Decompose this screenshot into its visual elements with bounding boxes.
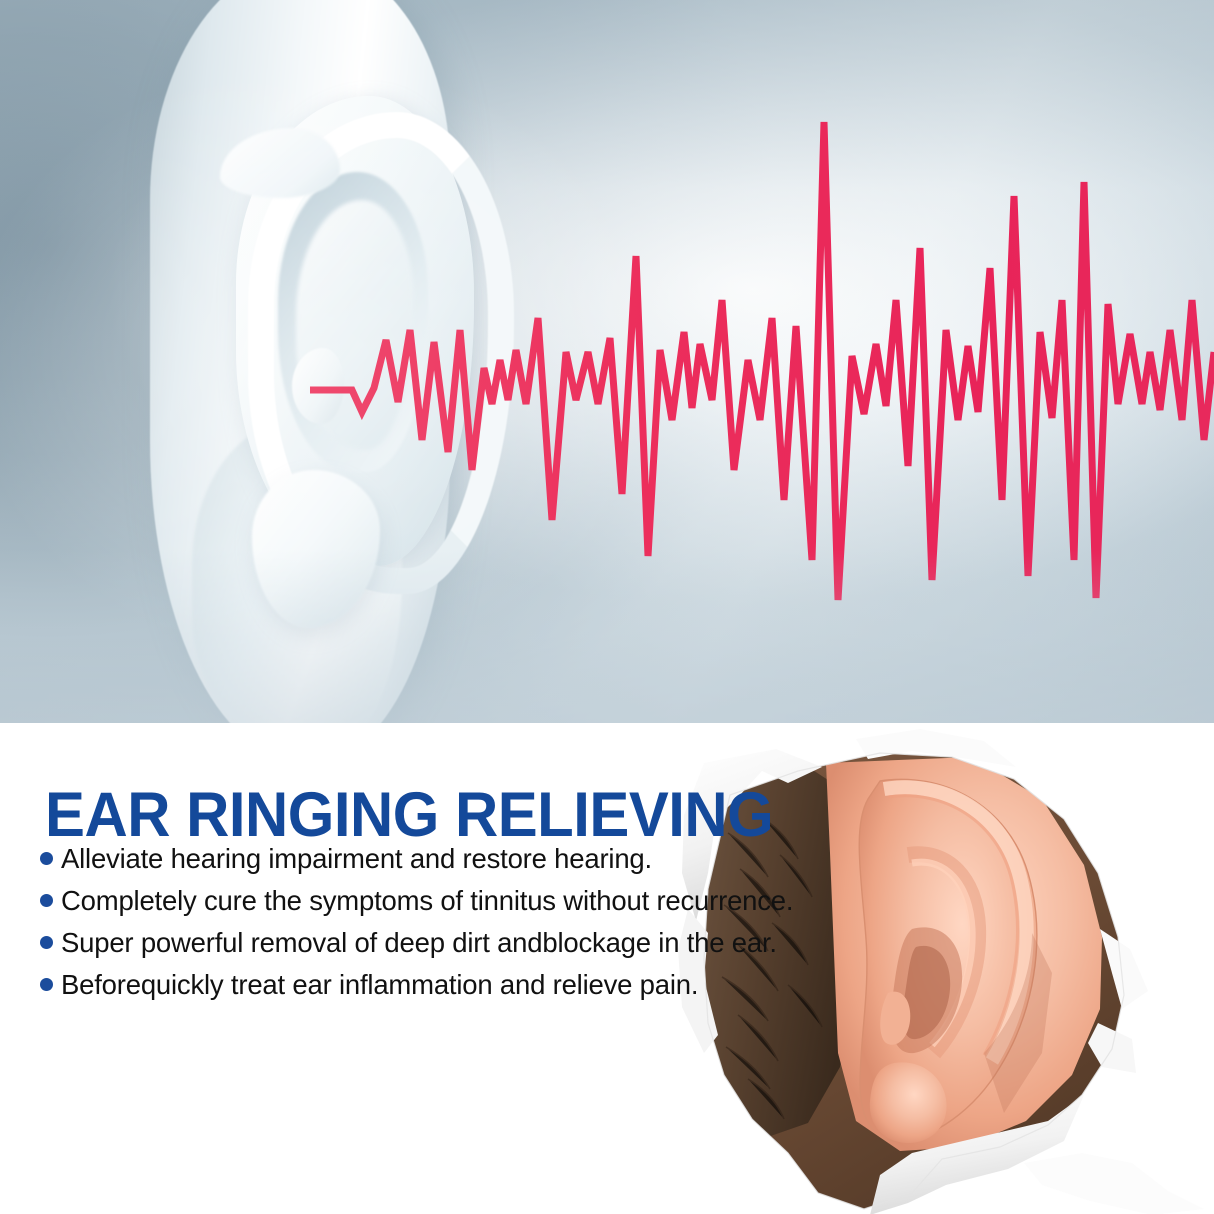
- bullet-dot-icon: [40, 894, 53, 907]
- list-item: Beforequickly treat ear inflammation and…: [40, 965, 820, 1005]
- list-item-label: Super powerful removal of deep dirt andb…: [61, 923, 777, 963]
- bullet-dot-icon: [40, 978, 53, 991]
- promo-banner: EAR RINGING RELIEVING Alleviate hearing …: [0, 0, 1214, 1214]
- list-item-label: Beforequickly treat ear inflammation and…: [61, 965, 698, 1005]
- info-panel: EAR RINGING RELIEVING Alleviate hearing …: [0, 723, 1214, 1214]
- list-item: Completely cure the symptoms of tinnitus…: [40, 881, 820, 921]
- page-title: EAR RINGING RELIEVING: [45, 783, 773, 847]
- list-item: Super powerful removal of deep dirt andb…: [40, 923, 820, 963]
- bullet-dot-icon: [40, 852, 53, 865]
- hero-image: [0, 0, 1214, 723]
- bullet-dot-icon: [40, 936, 53, 949]
- feature-list: Alleviate hearing impairment and restore…: [40, 839, 820, 1007]
- sound-waveform-icon: [0, 0, 1214, 723]
- list-item-label: Completely cure the symptoms of tinnitus…: [61, 881, 793, 921]
